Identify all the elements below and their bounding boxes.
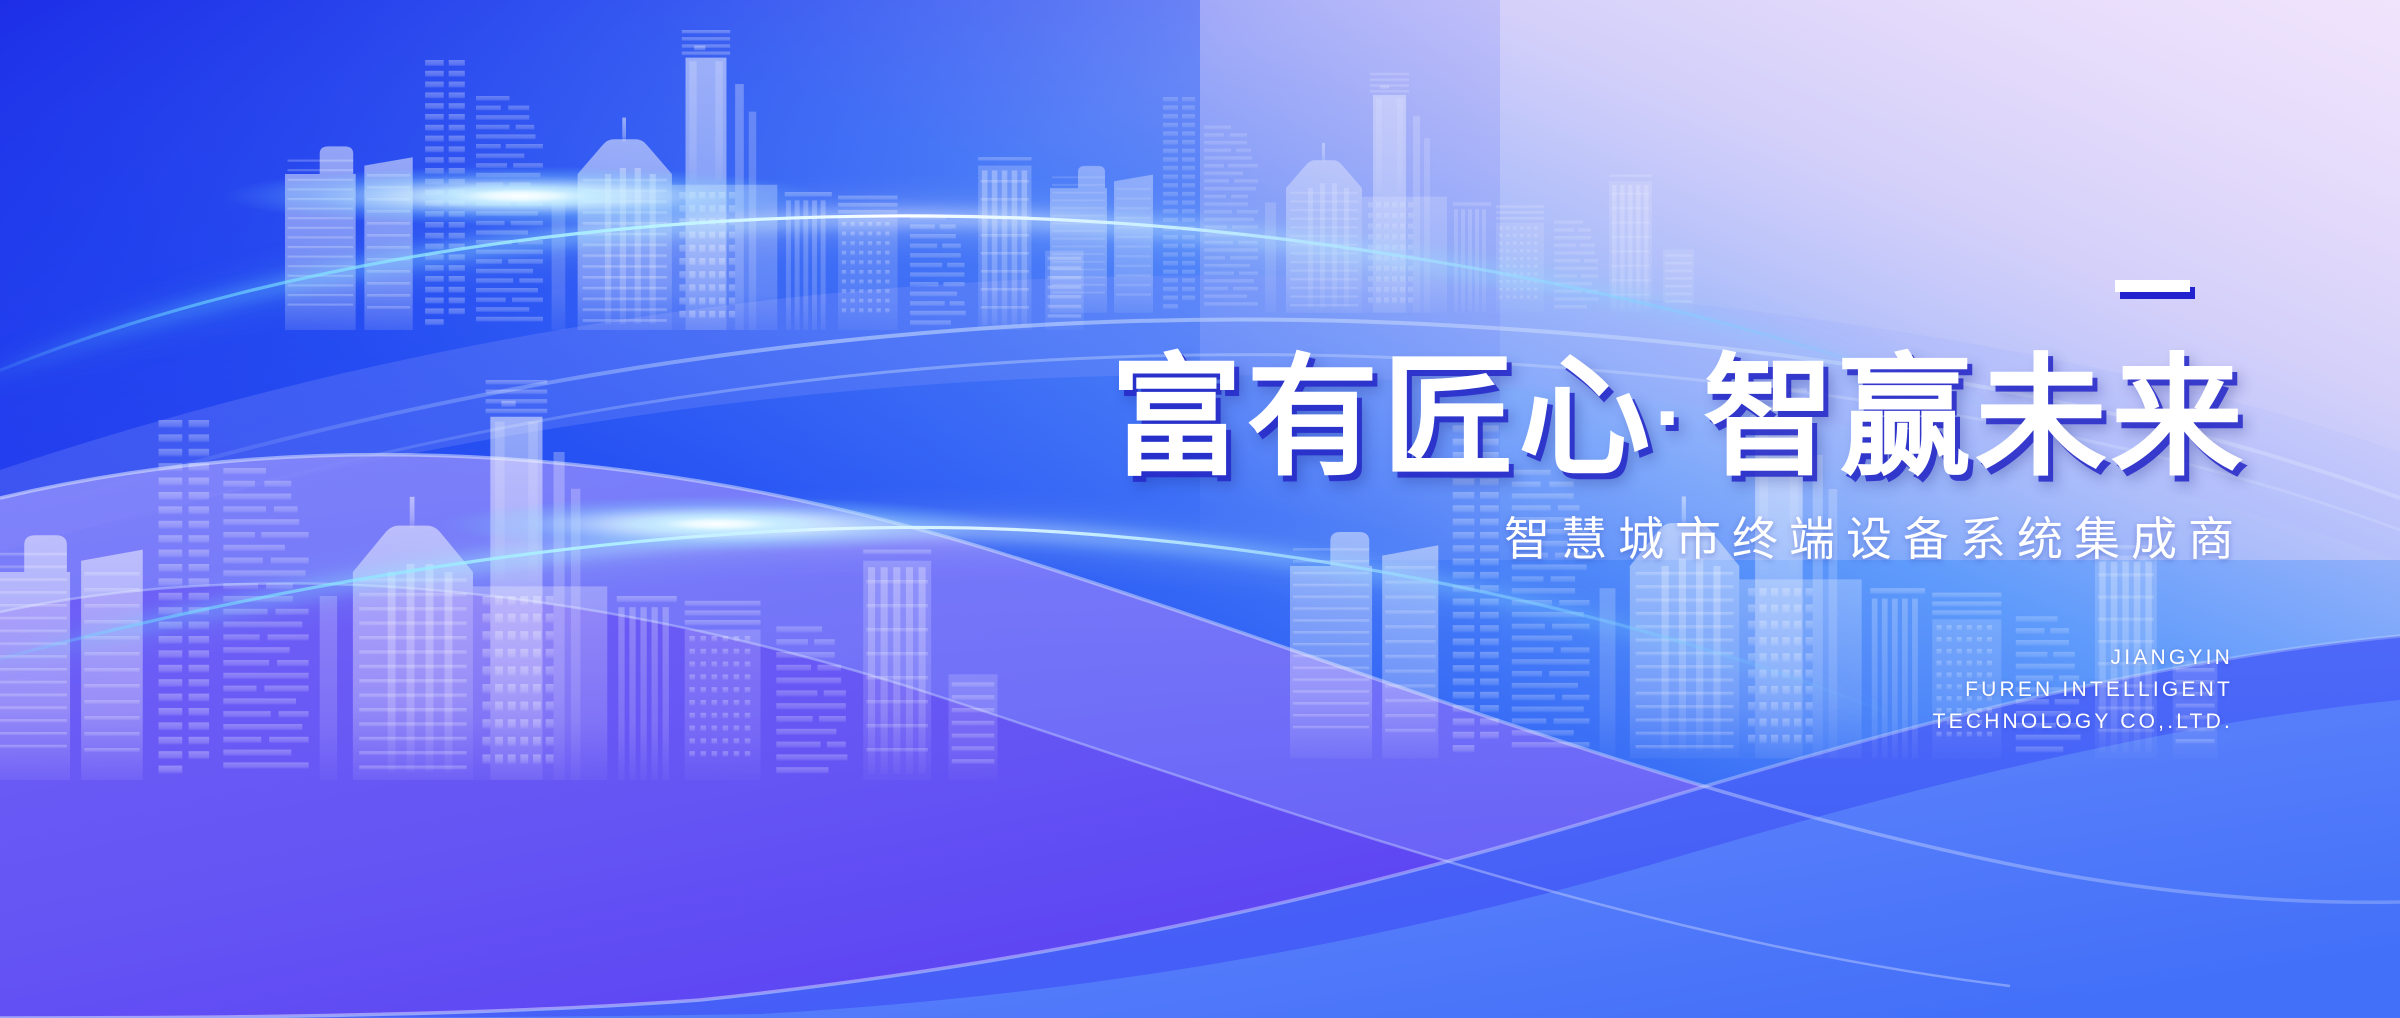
marketing-banner: 富有匠心·智赢未来 智慧城市终端设备系统集成商 JIANGYIN FUREN I… (0, 0, 2400, 1018)
glow-arc-layer (0, 0, 2400, 1018)
glow-arc-bottom (0, 496, 1900, 722)
glow-arc-top (0, 166, 2010, 420)
